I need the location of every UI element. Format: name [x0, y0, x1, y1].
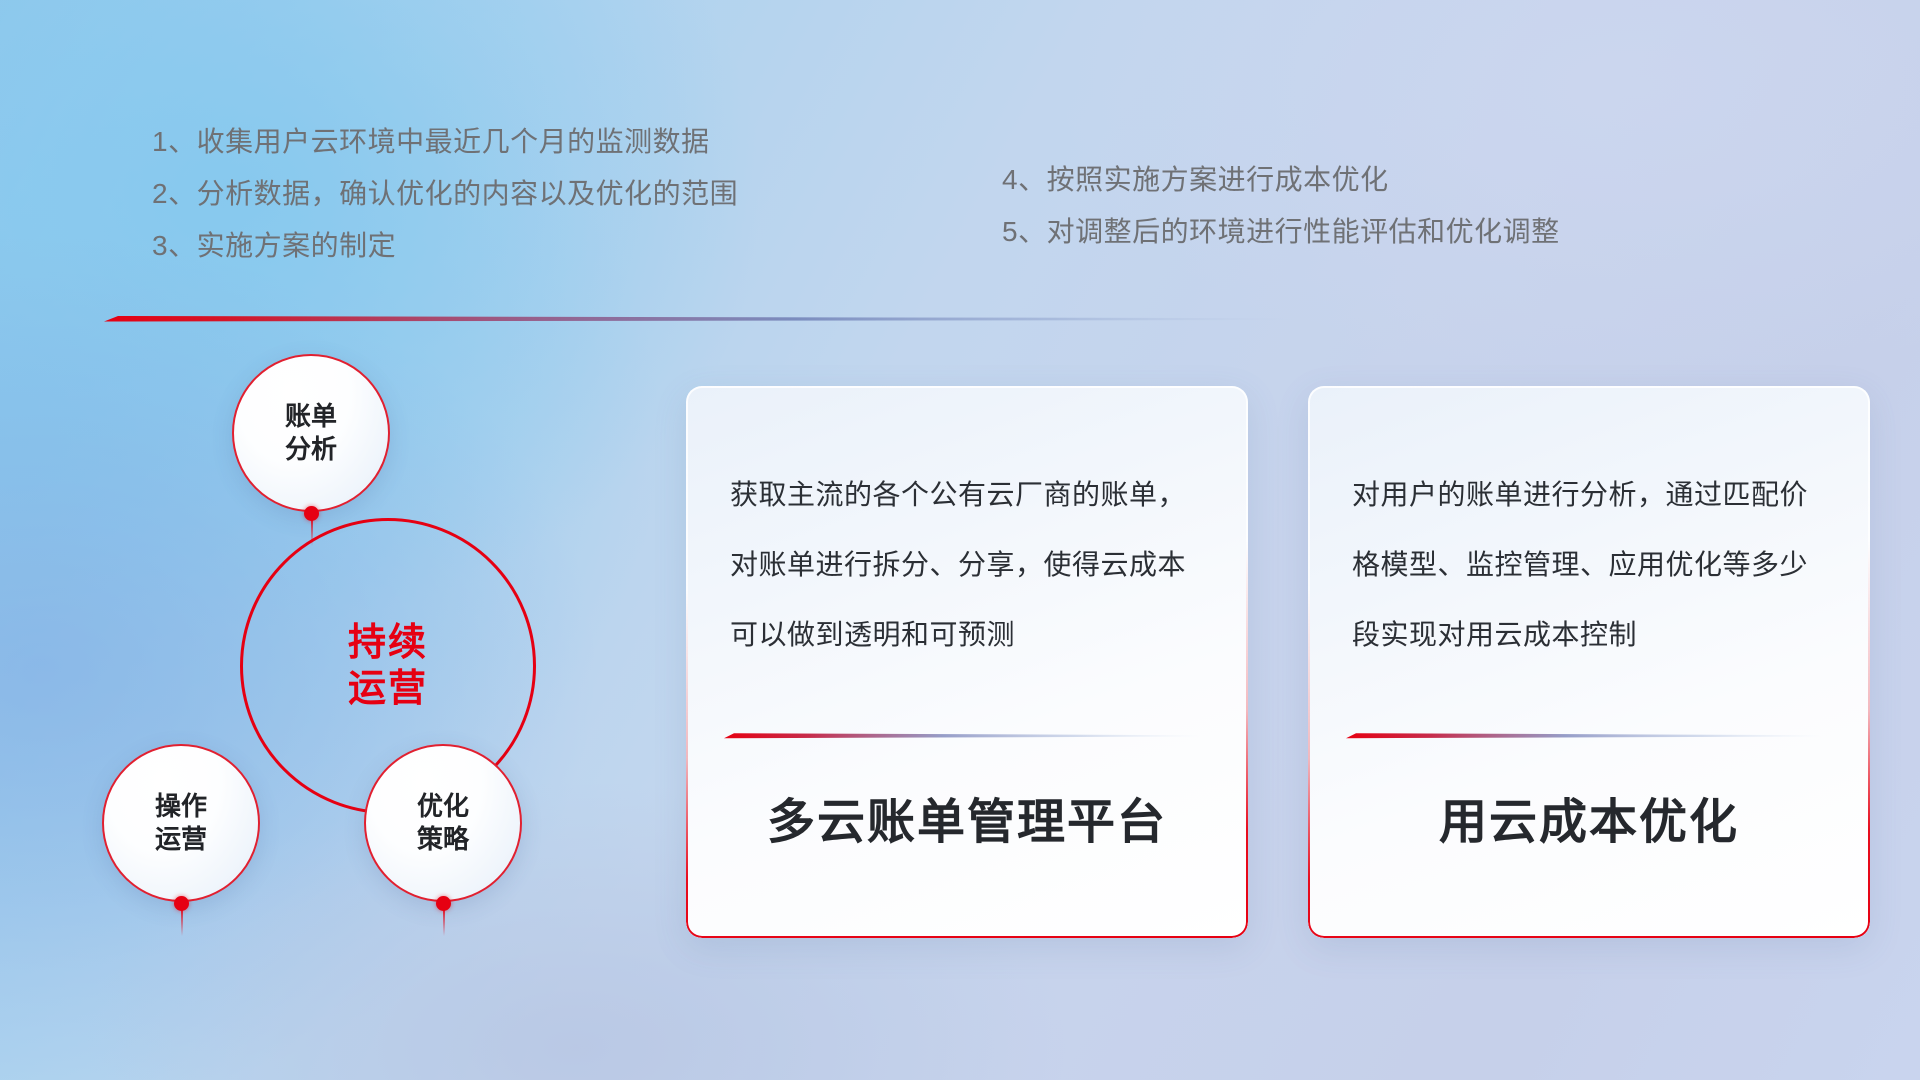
center-label-line-1: 持续 [348, 620, 428, 666]
card-divider-rule [1346, 732, 1822, 739]
step-item-5: 5、对调整后的环境进行性能评估和优化调整 [1002, 206, 1802, 258]
card-description: 获取主流的各个公有云厂商的账单，对账单进行拆分、分享，使得云成本可以做到透明和可… [730, 460, 1208, 670]
step-item-4: 4、按照实施方案进行成本优化 [1002, 154, 1802, 206]
node-label-line-2: 分析 [285, 433, 337, 466]
node-label-line-1: 操作 [155, 790, 207, 823]
diagram-node-optimization-strategy[interactable]: 优化 策略 [364, 744, 522, 902]
node-marker-tail-left [181, 910, 183, 936]
node-label-line-1: 优化 [417, 790, 469, 823]
center-label-line-2: 运营 [348, 666, 428, 712]
diagram-node-bill-analysis[interactable]: 账单 分析 [232, 354, 390, 512]
node-label-line-2: 运营 [155, 823, 207, 856]
card-title: 多云账单管理平台 [686, 782, 1248, 852]
card-description: 对用户的账单进行分析，通过匹配价格模型、监控管理、应用优化等多少段实现对用云成本… [1352, 460, 1830, 670]
step-item-1: 1、收集用户云环境中最近几个月的监测数据 [152, 116, 912, 168]
node-label-line-2: 策略 [417, 823, 469, 856]
continuous-operation-diagram: 持续 运营 账单 分析 操作 运营 优化 策略 [96, 348, 656, 948]
steps-list-left: 1、收集用户云环境中最近几个月的监测数据 2、分析数据，确认优化的内容以及优化的… [152, 116, 912, 272]
node-marker-tail-top [311, 520, 313, 546]
node-marker-dot-top [304, 506, 319, 521]
step-item-2: 2、分析数据，确认优化的内容以及优化的范围 [152, 168, 912, 220]
feature-card-cloud-cost-optimization[interactable]: 对用户的账单进行分析，通过匹配价格模型、监控管理、应用优化等多少段实现对用云成本… [1308, 386, 1870, 938]
feature-card-multi-cloud-billing-platform[interactable]: 获取主流的各个公有云厂商的账单，对账单进行拆分、分享，使得云成本可以做到透明和可… [686, 386, 1248, 938]
card-title: 用云成本优化 [1308, 782, 1870, 852]
node-marker-dot-left [174, 896, 189, 911]
steps-list-right: 4、按照实施方案进行成本优化 5、对调整后的环境进行性能评估和优化调整 [1002, 154, 1802, 258]
node-marker-tail-right [443, 910, 445, 936]
node-label-line-1: 账单 [285, 400, 337, 433]
step-item-3: 3、实施方案的制定 [152, 220, 912, 272]
diagram-node-operations[interactable]: 操作 运营 [102, 744, 260, 902]
node-marker-dot-right [436, 896, 451, 911]
card-divider-rule [724, 732, 1200, 739]
